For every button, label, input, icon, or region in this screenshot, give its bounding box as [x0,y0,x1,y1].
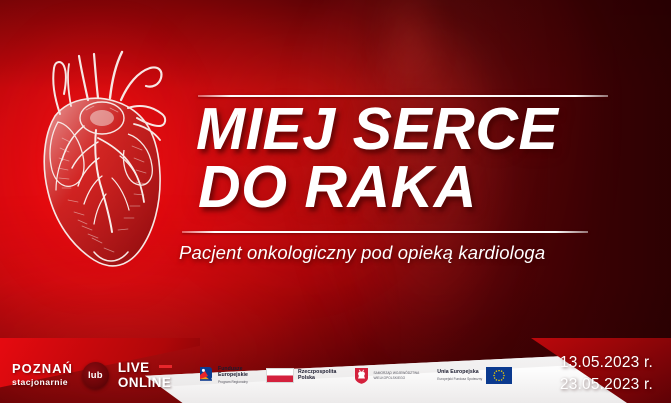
heart-icon [24,38,174,276]
onsite-mode: POZNAŃ stacjonarnie [12,362,73,388]
logo-rzeczpospolita-polska: Rzeczpospolita Polska [266,368,336,383]
logo-samorzad-title-2: WIELKOPOLSKIEGO [373,376,419,380]
logo-fundusze-europejskie: Fundusze Europejskie Program Regionalny [198,366,248,384]
logo-samorzad-title-1: SAMORZĄD WOJEWÓDZTWA [373,371,419,375]
logo-fundusze-title-2: Europejskie [218,372,248,378]
headline-block: MIEJ SERCE DO RAKA [196,100,626,217]
accent-dash-icon [159,365,172,368]
logo-unia-text: Unia Europejska Europejski Fundusz Społe… [437,369,482,381]
logo-fundusze-text: Fundusze Europejskie Program Regionalny [218,366,248,384]
logo-unia-europejska: Unia Europejska Europejski Fundusz Społe… [437,367,512,384]
event-dates: 13.05.2023 r. 23.05.2023 r. [560,352,653,396]
onsite-city: POZNAŃ [12,362,73,377]
headline-line-1: MIEJ SERCE [196,100,626,158]
onsite-label: stacjonarnie [12,377,73,388]
anatomical-heart-illustration [24,38,174,276]
online-label-online: ONLINE [118,375,171,390]
eu-stars-icon [486,367,512,384]
logo-polska-text: Rzeczpospolita Polska [298,369,336,382]
attendance-mode-row: POZNAŃ stacjonarnie lub LIVE ONLINE [12,358,171,392]
wielkopolska-coat-of-arms-icon [354,367,369,384]
european-union-flag-icon [486,367,512,384]
event-date-start: 13.05.2023 r. [560,352,653,374]
mode-separator-badge: lub [82,362,109,389]
poland-flag-icon [266,368,294,383]
event-poster: MIEJ SERCE DO RAKA Pacjent onkologiczny … [0,0,671,403]
logo-unia-title: Unia Europejska [437,369,482,375]
logo-samorzad-text: SAMORZĄD WOJEWÓDZTWA WIELKOPOLSKIEGO [373,370,419,380]
sponsor-logos: Fundusze Europejskie Program Regionalny … [198,358,518,392]
logo-unia-subtitle: Europejski Fundusz Społeczny [437,377,482,381]
headline-rule-bottom [182,231,588,233]
subtitle: Pacjent onkologiczny pod opieką kardiolo… [179,242,619,264]
event-date-end: 23.05.2023 r. [560,374,653,396]
logo-polska-title-2: Polska [298,375,336,381]
online-mode: LIVE ONLINE [118,360,171,390]
headline-line-2: DO RAKA [198,158,626,216]
logo-fundusze-subtitle: Program Regionalny [218,380,248,384]
fundusze-europejskie-logo-icon [198,366,214,384]
logo-samorzad-wielkopolskiego: SAMORZĄD WOJEWÓDZTWA WIELKOPOLSKIEGO [354,367,419,384]
